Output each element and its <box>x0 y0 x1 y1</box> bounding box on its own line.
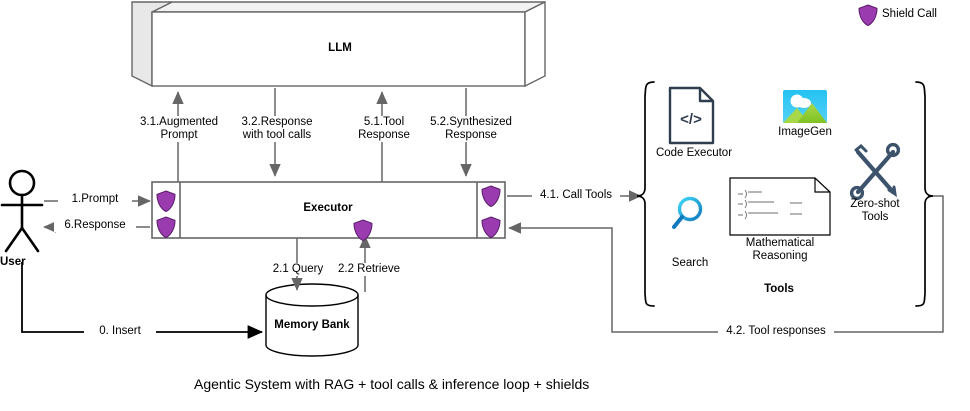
math-document-icon <box>730 178 830 235</box>
tools-group-label: Tools <box>749 283 809 296</box>
tool-label-math-reasoning: Mathematical Reasoning <box>730 237 830 263</box>
diagram-canvas: </> LLM <box>0 0 970 411</box>
diagram-caption: Agentic System with RAG + tool calls & i… <box>194 376 589 392</box>
flow-label-4-2: 4.2. Tool responses <box>718 325 834 338</box>
flow-label-0: 0. Insert <box>84 325 156 338</box>
tool-label-imagegen: ImageGen <box>770 126 840 139</box>
svg-text:</>: </> <box>680 111 702 128</box>
flow-label-6: 6.Response <box>54 219 136 232</box>
flow-label-4-1: 4.1. Call Tools <box>532 189 620 202</box>
llm-label: LLM <box>300 42 380 55</box>
flow-label-1: 1.Prompt <box>58 193 132 206</box>
user-label: User <box>0 256 46 269</box>
shield-icon-legend <box>859 5 877 26</box>
executor-label: Executor <box>288 202 368 215</box>
tool-label-code-executor: Code Executor <box>649 147 739 160</box>
flow-label-5-2: 5.2.Synthesized Response <box>428 116 514 142</box>
code-document-icon: </> <box>670 88 713 143</box>
memory-bank-label: Memory Bank <box>272 319 352 332</box>
image-picture-icon <box>783 90 827 123</box>
diagram-svg: </> <box>0 0 970 411</box>
flow-line-0 <box>22 262 262 332</box>
flow-label-2-1: 2.1 Query <box>265 263 331 276</box>
user-node <box>2 171 42 251</box>
flow-label-2-2: 2.2 Retrieve <box>332 263 406 276</box>
flow-label-3-2: 3.2.Response with tool calls <box>233 116 321 142</box>
flow-label-3-1: 3.1.Augmented Prompt <box>139 116 219 142</box>
flow-label-5-1: 5.1.Tool Response <box>348 116 420 142</box>
tool-label-search: Search <box>660 257 720 270</box>
legend-shield-label: Shield Call <box>882 8 962 21</box>
tool-label-zero-shot: Zero-shot Tools <box>841 198 909 224</box>
magnifier-icon <box>674 199 701 228</box>
crossed-tools-icon <box>852 145 899 199</box>
